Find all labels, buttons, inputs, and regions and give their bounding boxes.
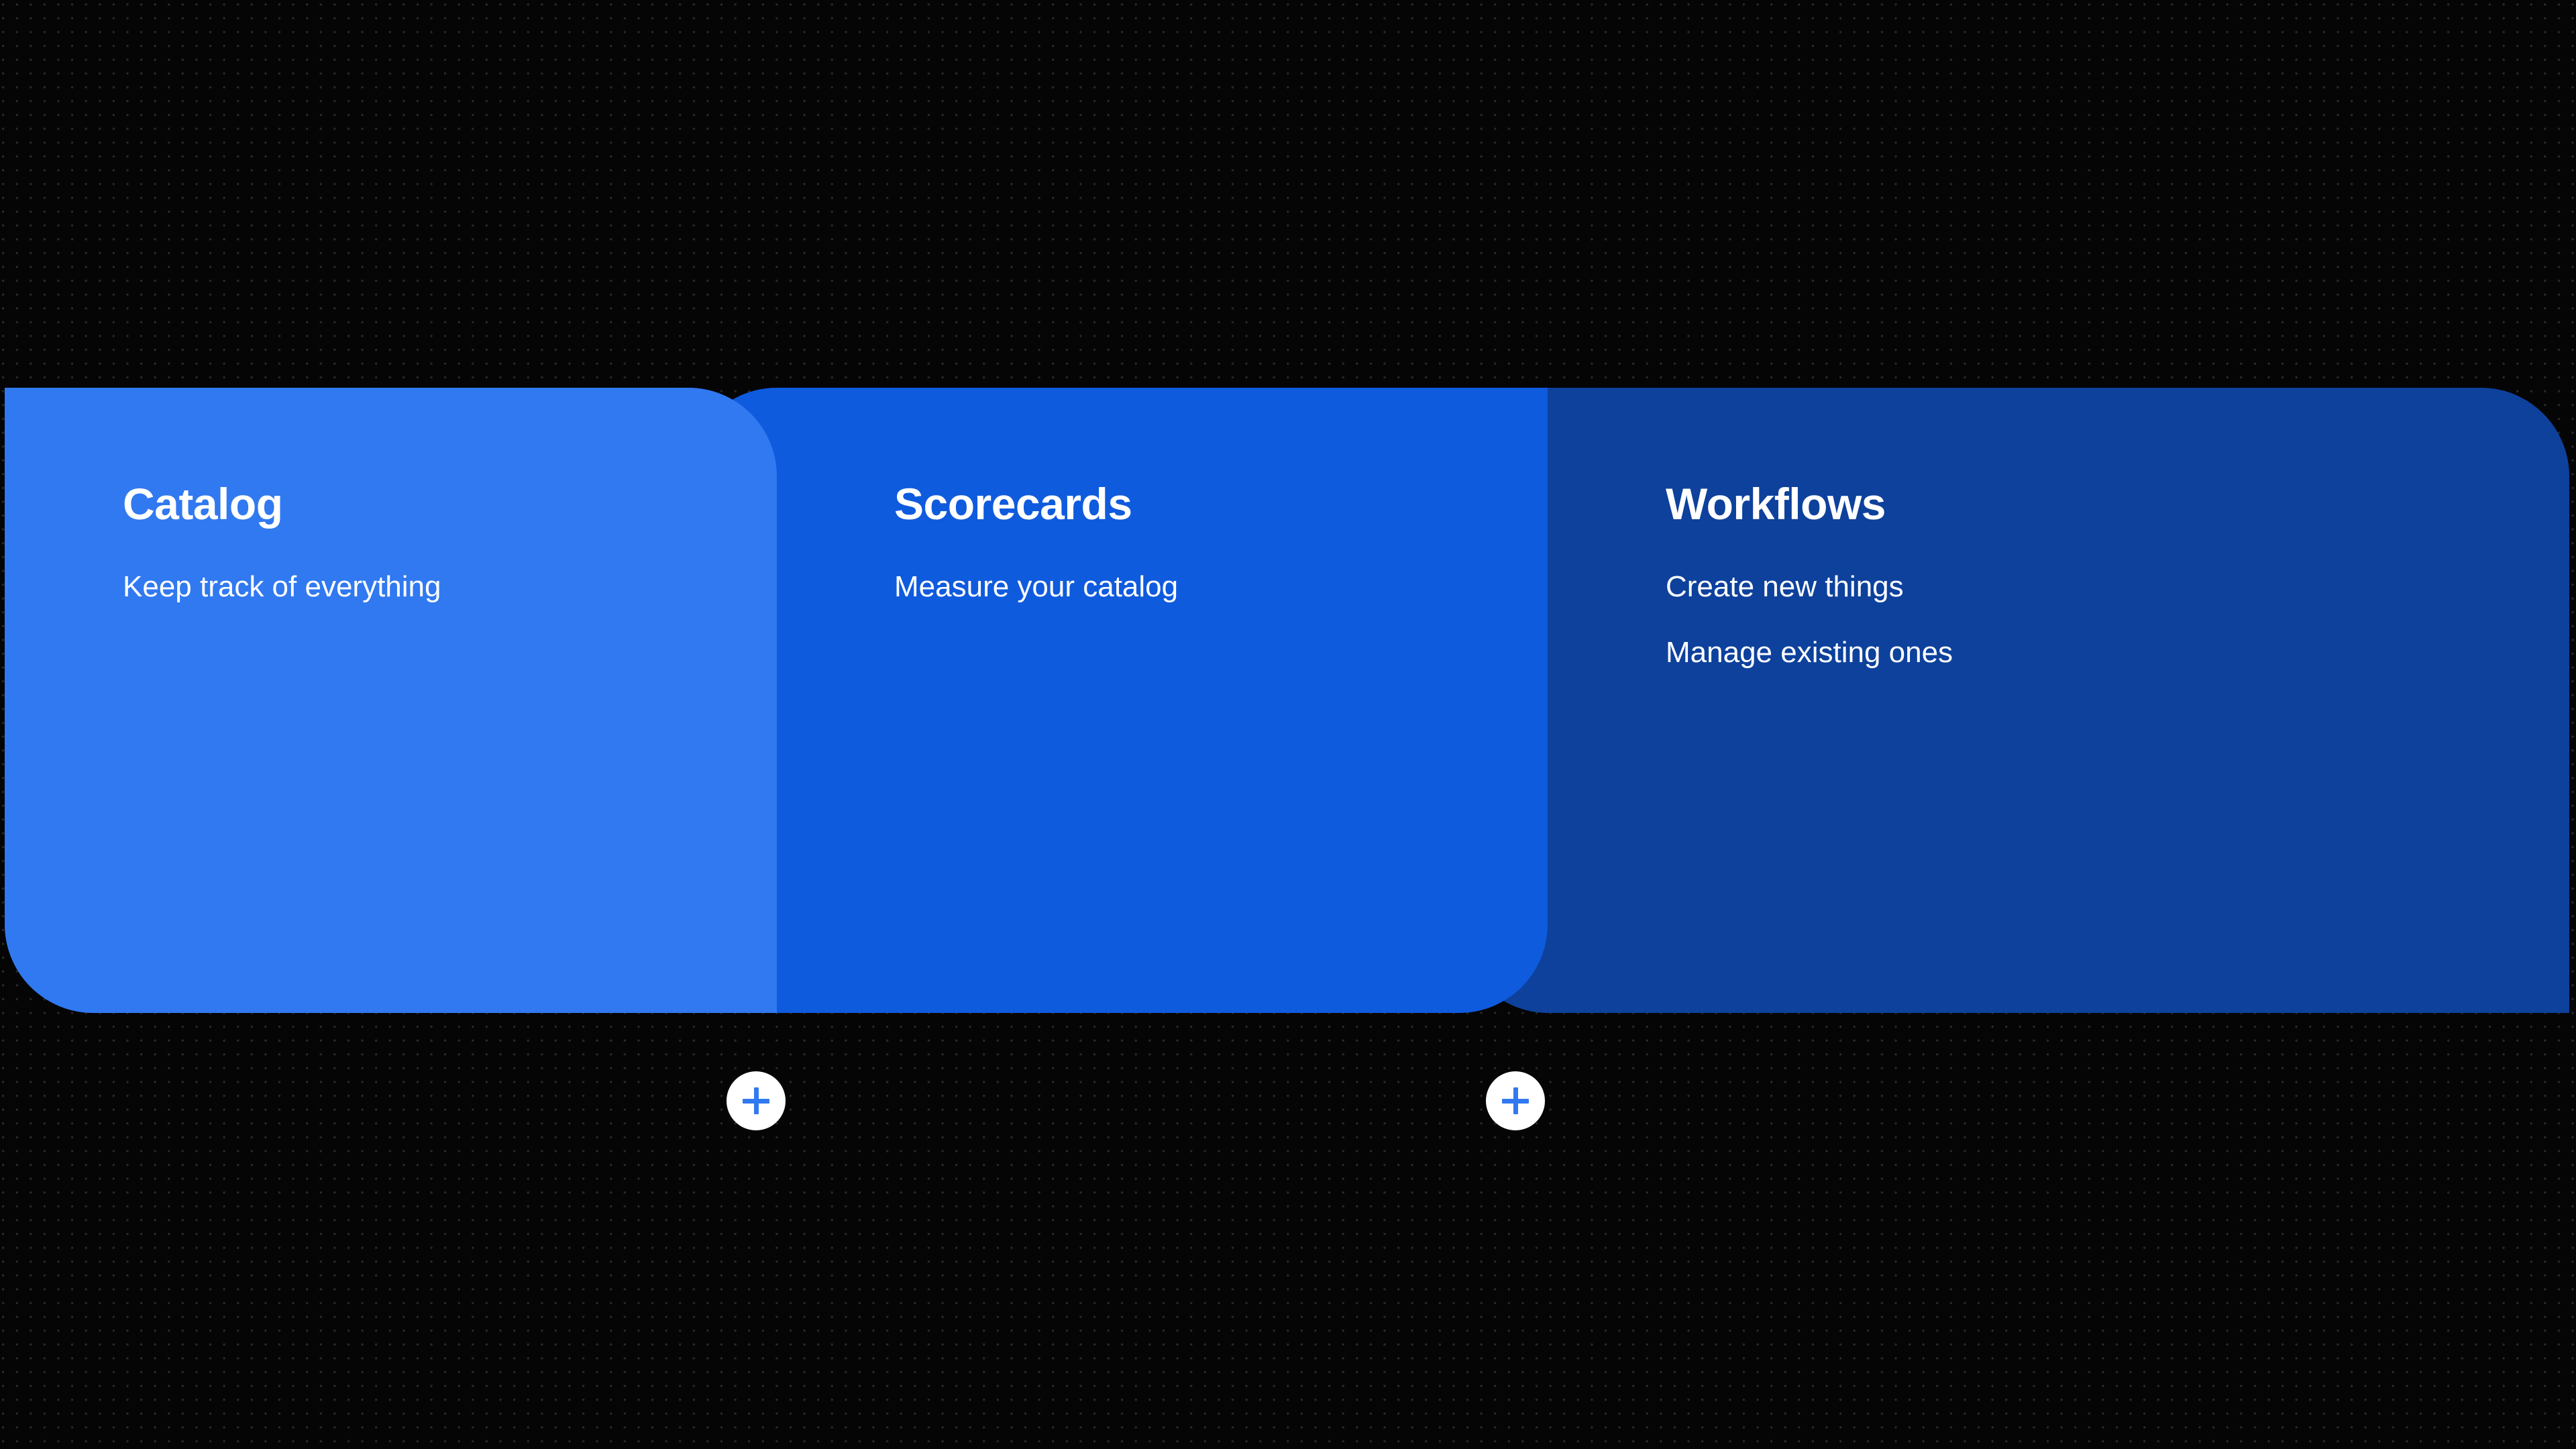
plus-icon bbox=[743, 1087, 769, 1114]
card-catalog-lines: Keep track of everything bbox=[123, 569, 777, 605]
card-workflows-line-1: Create new things bbox=[1666, 569, 2569, 605]
card-catalog[interactable]: Catalog Keep track of everything bbox=[5, 388, 777, 1013]
card-scorecards-line-1: Measure your catalog bbox=[894, 569, 1548, 605]
card-workflows[interactable]: Workflows Create new things Manage exist… bbox=[1460, 388, 2569, 1013]
card-scorecards-title: Scorecards bbox=[894, 482, 1548, 526]
plus-icon bbox=[1502, 1087, 1529, 1114]
connector-plus-button-2[interactable] bbox=[1486, 1071, 1545, 1130]
card-scorecards[interactable]: Scorecards Measure your catalog bbox=[688, 388, 1548, 1013]
card-catalog-line-1: Keep track of everything bbox=[123, 569, 472, 605]
card-band: Workflows Create new things Manage exist… bbox=[0, 388, 2576, 1013]
connector-plus-button-1[interactable] bbox=[727, 1071, 786, 1130]
card-workflows-lines: Create new things Manage existing ones bbox=[1666, 569, 2569, 670]
card-workflows-title: Workflows bbox=[1666, 482, 2569, 526]
card-scorecards-lines: Measure your catalog bbox=[894, 569, 1548, 605]
diagram-canvas: Workflows Create new things Manage exist… bbox=[0, 0, 2576, 1449]
card-workflows-line-2: Manage existing ones bbox=[1666, 635, 2569, 671]
card-catalog-title: Catalog bbox=[123, 482, 777, 526]
